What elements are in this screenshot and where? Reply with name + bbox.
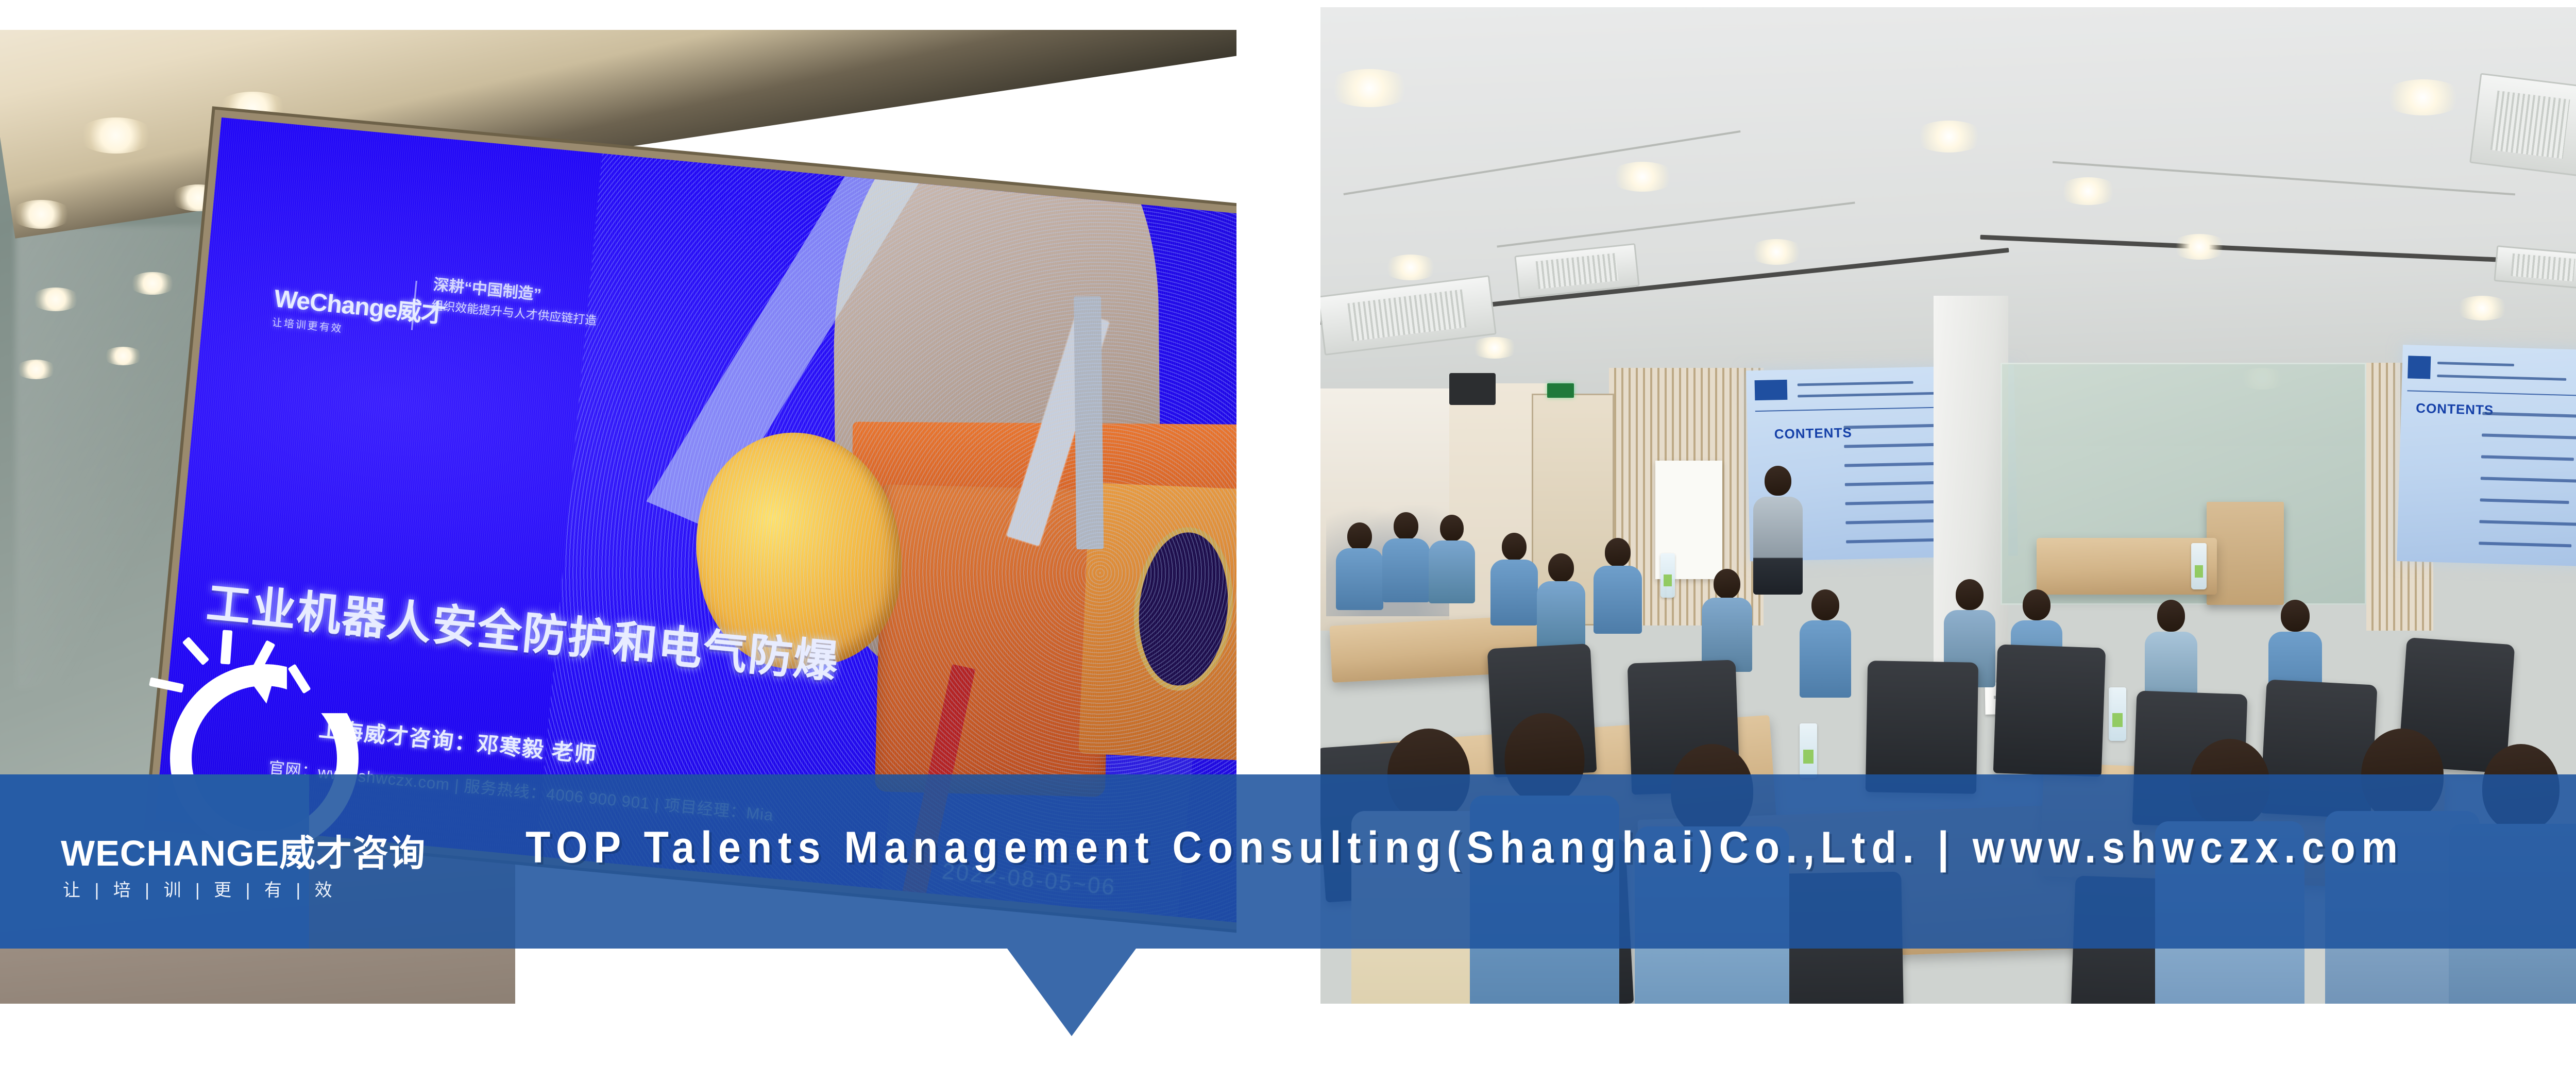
water-bottle xyxy=(2191,543,2207,589)
ac-vent xyxy=(2494,245,2576,290)
projection-screen-right: CONTENTS xyxy=(2397,345,2576,566)
banner-headline: TOP Talents Management Consulting(Shangh… xyxy=(526,822,2576,873)
head-table xyxy=(2037,538,2217,595)
attendee xyxy=(1800,589,1851,698)
attendee xyxy=(1537,553,1585,651)
banner-ribbon-tail xyxy=(1007,949,1136,1036)
podium xyxy=(2207,502,2284,605)
ac-vent xyxy=(1320,275,1497,356)
brand-name: WECHANGE威才咨询 xyxy=(61,824,426,876)
promotional-banner-image: WeChange威才 让培训更有效 深耕“中国制造” 组织效能提升与人才供应链打… xyxy=(0,0,2576,1082)
water-bottle xyxy=(2109,687,2126,741)
water-bottle xyxy=(1660,553,1675,598)
presenter xyxy=(1753,466,1803,595)
slide-contents-label: CONTENTS xyxy=(1774,426,1852,441)
attendee xyxy=(1382,512,1430,602)
chair xyxy=(1993,644,2106,776)
ac-vent xyxy=(2469,73,2576,176)
attendee xyxy=(1429,515,1475,603)
wall-speaker xyxy=(1449,373,1496,405)
brand-tagline: 让 | 培 | 训 | 更 | 有 | 效 xyxy=(63,876,337,901)
attendee xyxy=(1490,533,1538,625)
attendee xyxy=(1702,569,1752,672)
attendee xyxy=(1594,538,1642,634)
water-bottle xyxy=(1800,723,1817,778)
exit-sign-icon xyxy=(1547,383,1574,398)
attendee xyxy=(1336,522,1383,610)
